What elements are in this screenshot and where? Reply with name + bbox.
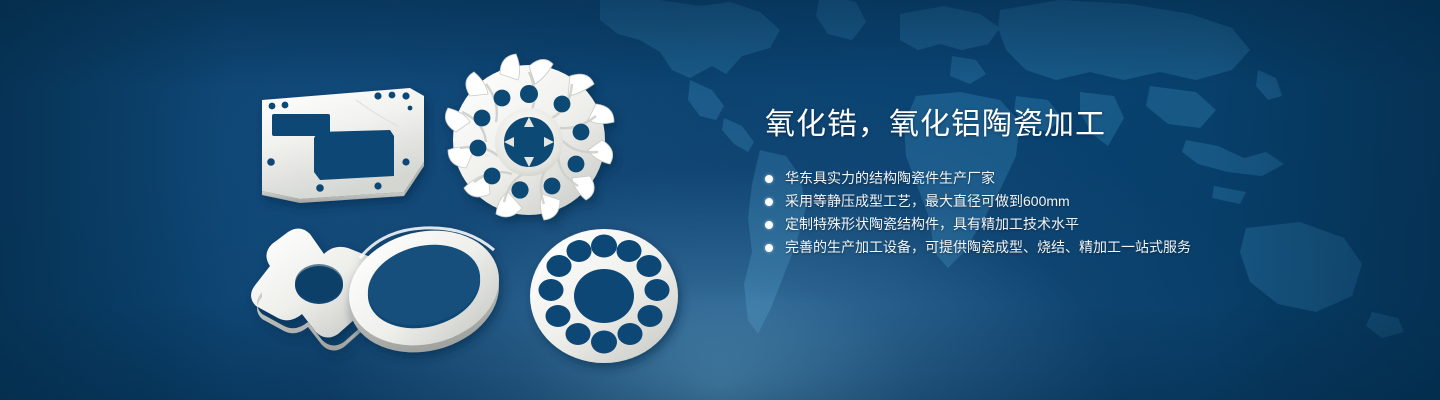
feature-text: 定制特殊形状陶瓷结构件，具有精加工技术水平 — [785, 213, 1079, 236]
bullet-dot-icon — [765, 175, 773, 183]
bullet-dot-icon — [765, 221, 773, 229]
list-item: 定制特殊形状陶瓷结构件，具有精加工技术水平 — [765, 213, 1365, 236]
product-image-group — [0, 0, 720, 400]
feature-text: 完善的生产加工设备，可提供陶瓷成型、烧结、精加工一站式服务 — [785, 236, 1191, 259]
product-ceramic-perforated-disc — [530, 229, 678, 363]
feature-text: 采用等静压成型工艺，最大直径可做到600mm — [785, 190, 1070, 213]
product-ceramic-plate — [262, 88, 424, 203]
list-item: 华东具实力的结构陶瓷件生产厂家 — [765, 167, 1365, 190]
list-item: 采用等静压成型工艺，最大直径可做到600mm — [765, 190, 1365, 213]
bullet-dot-icon — [765, 198, 773, 206]
feature-text: 华东具实力的结构陶瓷件生产厂家 — [785, 167, 995, 190]
hero-banner: 氧化锆，氧化铝陶瓷加工 华东具实力的结构陶瓷件生产厂家 采用等静压成型工艺，最大… — [0, 0, 1440, 400]
product-ceramic-impeller — [445, 54, 614, 220]
banner-copy: 氧化锆，氧化铝陶瓷加工 华东具实力的结构陶瓷件生产厂家 采用等静压成型工艺，最大… — [765, 105, 1365, 259]
bullet-dot-icon — [765, 244, 773, 252]
product-ceramic-ring — [337, 215, 512, 367]
list-item: 完善的生产加工设备，可提供陶瓷成型、烧结、精加工一站式服务 — [765, 236, 1365, 259]
banner-headline: 氧化锆，氧化铝陶瓷加工 — [765, 105, 1365, 145]
feature-list: 华东具实力的结构陶瓷件生产厂家 采用等静压成型工艺，最大直径可做到600mm 定… — [765, 167, 1365, 259]
